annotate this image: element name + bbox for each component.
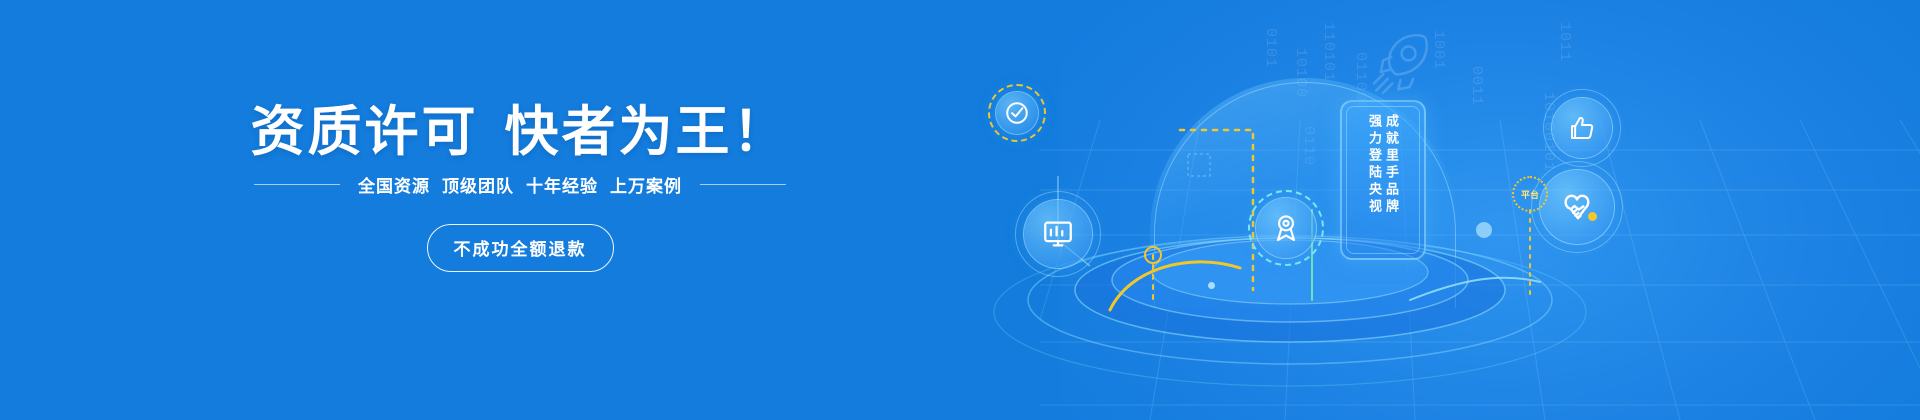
subtitle-rule-right	[700, 184, 786, 185]
subtitle-row: 全国资源顶级团队十年经验上万案例	[0, 172, 1040, 197]
check-circle-bubble[interactable]	[996, 92, 1038, 134]
monitor-chart-bubble[interactable]	[1024, 200, 1092, 268]
subtitle-item-2: 十年经验	[526, 177, 598, 196]
headline-part-1: 资质许可	[251, 102, 479, 162]
brand-panel-line-right: 成就里手品牌	[1385, 114, 1398, 216]
subtitle-item-0: 全国资源	[358, 177, 430, 196]
rocket-icon	[1360, 28, 1434, 102]
light-dot-node	[1476, 222, 1492, 238]
award-medal-icon	[1270, 212, 1302, 244]
gold-dot-node	[1144, 246, 1162, 264]
platform-badge[interactable]: 平台	[1512, 176, 1548, 212]
award-medal-bubble[interactable]	[1256, 198, 1316, 258]
thumbs-up-bubble[interactable]	[1552, 98, 1612, 158]
page-title: 资质许可快者为王！	[0, 104, 1040, 161]
brand-panel-text: 成就里手品牌 强力登陆央视	[1340, 100, 1426, 260]
handshake-heart-bubble[interactable]	[1540, 170, 1614, 244]
subtitle: 全国资源顶级团队十年经验上万案例	[358, 172, 682, 197]
subtitle-rule-left	[254, 184, 340, 185]
monitor-chart-icon	[1041, 217, 1075, 251]
cta-row: 不成功全额退款	[0, 224, 1040, 272]
refund-guarantee-button[interactable]: 不成功全额退款	[427, 224, 614, 272]
subtitle-item-3: 上万案例	[610, 177, 682, 196]
check-circle-icon	[1004, 100, 1030, 126]
subtitle-item-1: 顶级团队	[442, 177, 514, 196]
gold-dot-small	[1588, 212, 1597, 221]
light-dot-small	[1208, 282, 1215, 289]
headline-part-2: 快者为王！	[505, 102, 790, 162]
illustration: 成就里手品牌 强力登陆央视 平台	[940, 0, 1920, 420]
promo-banner: 0101 10100 110101 011000 0110 1011 10100…	[0, 0, 1920, 420]
copy-block: 资质许可快者为王！ 全国资源顶级团队十年经验上万案例 不成功全额退款	[0, 0, 1040, 420]
thumbs-up-icon	[1567, 113, 1597, 143]
brand-panel-line-left: 强力登陆央视	[1368, 114, 1381, 216]
